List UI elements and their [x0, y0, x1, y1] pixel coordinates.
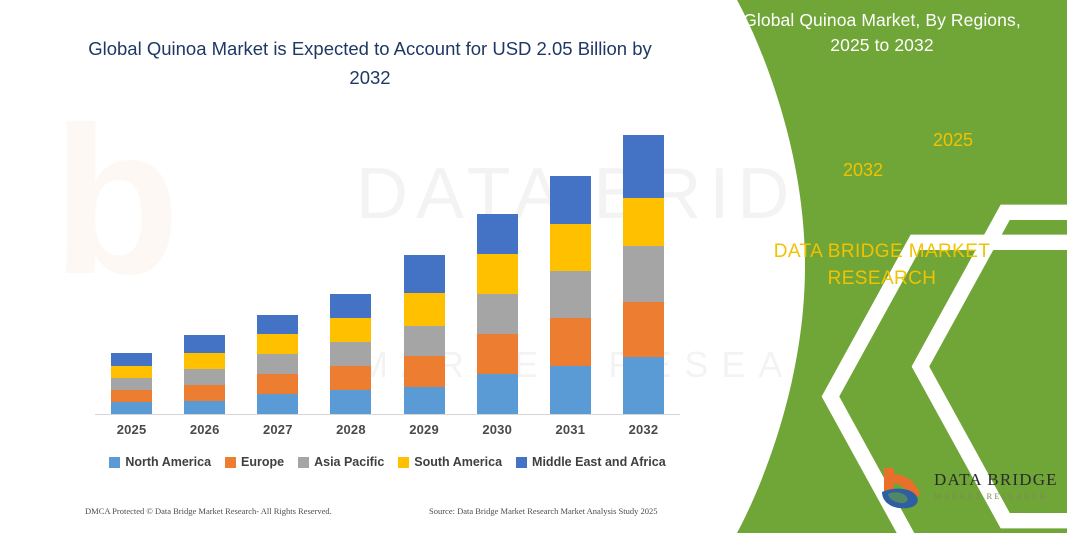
bar-segment[interactable]	[184, 385, 225, 401]
stacked-bar[interactable]	[330, 294, 371, 414]
bar-segment[interactable]	[111, 353, 152, 366]
bar-segment[interactable]	[623, 302, 664, 357]
legend-swatch	[109, 457, 120, 468]
hexagon-2032-label: 2032	[815, 160, 911, 181]
bar-chart	[95, 110, 680, 415]
legend-item[interactable]: North America	[109, 455, 211, 469]
hexagon-2032: 2032	[815, 130, 911, 218]
bar-segment[interactable]	[477, 334, 518, 374]
bar-segment[interactable]	[550, 176, 591, 224]
x-axis-label: 2026	[168, 422, 241, 437]
chart-legend: North AmericaEuropeAsia PacificSouth Ame…	[95, 455, 680, 469]
legend-label: Europe	[241, 455, 284, 469]
legend-label: North America	[125, 455, 211, 469]
bar-slot	[95, 110, 168, 414]
panel-brand-text: DATA BRIDGE MARKET RESEARCH	[737, 238, 1027, 292]
logo-text: DATA BRIDGE MARKET RESEARCH	[934, 470, 1058, 502]
bar-slot	[314, 110, 387, 414]
bar-segment[interactable]	[257, 315, 298, 334]
brand-panel: Global Quinoa Market, By Regions, 2025 t…	[697, 0, 1067, 533]
legend-label: Middle East and Africa	[532, 455, 666, 469]
x-axis-line	[95, 414, 680, 415]
stacked-bar[interactable]	[550, 176, 591, 414]
bar-segment[interactable]	[330, 390, 371, 414]
bar-segment[interactable]	[330, 366, 371, 390]
infographic-root: b DATA BRIDGE MARKET RESEARCH Global Qui…	[0, 0, 1067, 533]
bar-slot	[534, 110, 607, 414]
bar-segment[interactable]	[257, 394, 298, 414]
bar-segment[interactable]	[184, 353, 225, 369]
legend-swatch	[225, 457, 236, 468]
bar-segment[interactable]	[330, 294, 371, 318]
panel-brand-line1: DATA BRIDGE MARKET	[737, 238, 1027, 265]
bar-segment[interactable]	[550, 271, 591, 318]
bar-segment[interactable]	[477, 254, 518, 294]
legend-swatch	[398, 457, 409, 468]
bar-segment[interactable]	[257, 374, 298, 394]
legend-swatch	[298, 457, 309, 468]
bar-segment[interactable]	[477, 214, 518, 254]
bar-segment[interactable]	[477, 294, 518, 334]
page-title: Global Quinoa Market is Expected to Acco…	[70, 34, 670, 92]
bar-segment[interactable]	[257, 354, 298, 374]
bar-slot	[168, 110, 241, 414]
stacked-bar[interactable]	[404, 255, 445, 414]
footer: DMCA Protected © Data Bridge Market Rese…	[85, 506, 685, 522]
bar-segment[interactable]	[550, 224, 591, 271]
panel-brand-line2: RESEARCH	[737, 265, 1027, 292]
x-axis-label: 2028	[314, 422, 387, 437]
hexagon-group: 2025 2032	[787, 100, 1047, 210]
bar-segment[interactable]	[623, 198, 664, 246]
stacked-bar[interactable]	[623, 135, 664, 414]
bar-segment[interactable]	[477, 374, 518, 414]
bar-segment[interactable]	[184, 369, 225, 385]
bar-segment[interactable]	[404, 255, 445, 293]
bar-group	[95, 110, 680, 414]
bar-segment[interactable]	[550, 318, 591, 366]
stacked-bar[interactable]	[257, 315, 298, 414]
logo-title: DATA BRIDGE	[934, 470, 1058, 489]
bar-segment[interactable]	[111, 390, 152, 402]
bar-segment[interactable]	[623, 357, 664, 414]
x-axis-label: 2029	[388, 422, 461, 437]
bar-slot	[461, 110, 534, 414]
footer-source: Source: Data Bridge Market Research Mark…	[429, 506, 658, 516]
legend-label: Asia Pacific	[314, 455, 384, 469]
bar-slot	[607, 110, 680, 414]
bar-segment[interactable]	[111, 366, 152, 378]
x-axis-labels: 20252026202720282029203020312032	[95, 422, 680, 437]
legend-item[interactable]: Asia Pacific	[298, 455, 384, 469]
bar-segment[interactable]	[404, 387, 445, 414]
bar-segment[interactable]	[404, 356, 445, 387]
bar-segment[interactable]	[404, 326, 445, 356]
x-axis-label: 2032	[607, 422, 680, 437]
panel-heading: Global Quinoa Market, By Regions, 2025 t…	[722, 8, 1042, 58]
x-axis-label: 2031	[534, 422, 607, 437]
bar-segment[interactable]	[623, 246, 664, 302]
x-axis-label: 2025	[95, 422, 168, 437]
bar-segment[interactable]	[550, 366, 591, 414]
bar-segment[interactable]	[623, 135, 664, 198]
bar-segment[interactable]	[184, 335, 225, 353]
legend-label: South America	[414, 455, 502, 469]
footer-copyright: DMCA Protected © Data Bridge Market Rese…	[85, 506, 332, 516]
legend-item[interactable]: Middle East and Africa	[516, 455, 666, 469]
logo-mark-icon	[878, 466, 926, 512]
bar-slot	[388, 110, 461, 414]
bar-segment[interactable]	[330, 342, 371, 366]
bar-segment[interactable]	[330, 318, 371, 342]
legend-item[interactable]: South America	[398, 455, 502, 469]
legend-swatch	[516, 457, 527, 468]
logo-subtitle: MARKET RESEARCH	[934, 490, 1058, 502]
legend-item[interactable]: Europe	[225, 455, 284, 469]
bar-segment[interactable]	[404, 293, 445, 326]
bar-segment[interactable]	[184, 401, 225, 414]
bar-slot	[241, 110, 314, 414]
stacked-bar[interactable]	[111, 353, 152, 414]
logo: DATA BRIDGE MARKET RESEARCH	[878, 466, 1058, 514]
x-axis-label: 2027	[241, 422, 314, 437]
bar-segment[interactable]	[111, 402, 152, 414]
bar-segment[interactable]	[111, 378, 152, 390]
bar-segment[interactable]	[257, 334, 298, 354]
x-axis-label: 2030	[461, 422, 534, 437]
stacked-bar[interactable]	[477, 214, 518, 414]
stacked-bar[interactable]	[184, 335, 225, 414]
